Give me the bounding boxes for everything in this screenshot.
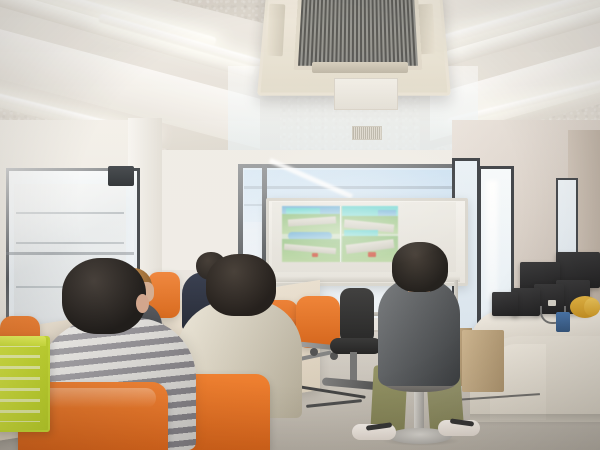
ac-air-outlet bbox=[312, 62, 408, 73]
chair-caster bbox=[310, 348, 318, 356]
person-striped-head bbox=[62, 258, 146, 334]
tape-roll-icon bbox=[584, 298, 600, 316]
person-beige-head bbox=[206, 254, 276, 316]
equipment-case bbox=[492, 292, 518, 316]
blue-desk-item bbox=[556, 312, 570, 332]
blind-box-icon[interactable] bbox=[108, 166, 134, 186]
projection-glow bbox=[278, 202, 404, 266]
crate-rim bbox=[0, 336, 46, 346]
ac-louver-left bbox=[267, 4, 286, 57]
window-right-2-glow bbox=[486, 180, 498, 300]
ceiling-vent-square bbox=[334, 78, 398, 110]
counter-shadow bbox=[470, 414, 600, 426]
crate-slots bbox=[0, 344, 40, 422]
cardboard-box bbox=[462, 330, 504, 392]
office-meeting-room-photo bbox=[0, 0, 600, 450]
ac-grille-icon bbox=[294, 0, 423, 70]
person-gray-body-shading bbox=[378, 278, 460, 386]
ceiling-vent-louvered bbox=[352, 126, 382, 140]
office-chair-back[interactable] bbox=[340, 288, 374, 344]
person-striped-ear bbox=[136, 294, 149, 313]
person-gray-head bbox=[392, 242, 448, 292]
